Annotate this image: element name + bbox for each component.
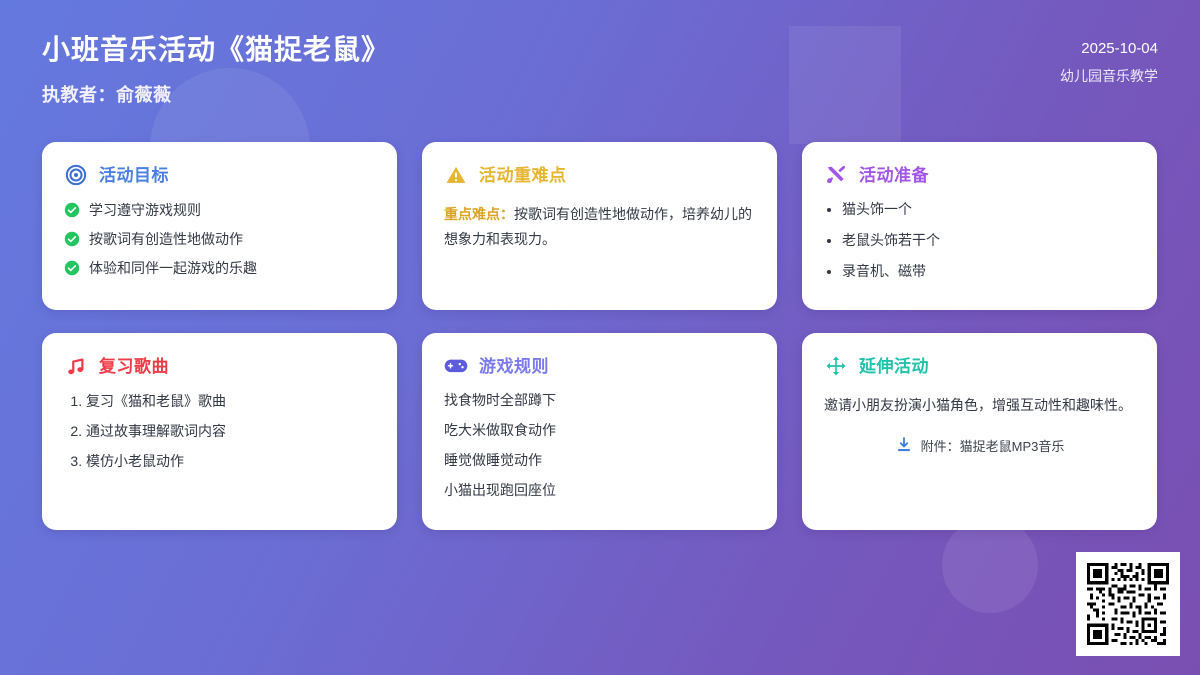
qr-code-image	[1084, 560, 1172, 648]
card-goal-title: 活动目标	[99, 167, 169, 184]
attachment-label: 附件：猫捉老鼠MP3音乐	[921, 436, 1065, 455]
list-item-label: 吃大米做取食动作	[444, 422, 556, 438]
card-goal-header: 活动目标	[64, 162, 375, 188]
slide-header: 小班音乐活动《猫捉老鼠》 执教者：俞薇薇 2025-10-04 幼儿园音乐教学	[0, 0, 1200, 142]
slide-root: 小班音乐活动《猫捉老鼠》 执教者：俞薇薇 2025-10-04 幼儿园音乐教学 …	[0, 0, 1200, 675]
music-note-icon	[64, 354, 88, 378]
list-item: 学习遵守游戏规则	[64, 202, 375, 218]
card-rules-header: 游戏规则	[444, 353, 755, 379]
card-goal: 活动目标 学习遵守游戏规则 按歌词有创造性地做动作 体验和同伴一起游戏的乐趣	[42, 142, 397, 310]
target-icon	[64, 163, 88, 187]
card-focus: 活动重难点 重点难点：按歌词有创造性地做动作，培养幼儿的想象力和表现力。	[422, 142, 777, 310]
check-circle-icon	[64, 231, 80, 247]
list-item: 吃大米做取食动作	[444, 423, 755, 437]
qr-code[interactable]	[1076, 552, 1180, 656]
list-item: 模仿小老鼠动作	[86, 453, 375, 469]
card-rules-title: 游戏规则	[479, 358, 549, 375]
download-icon	[895, 436, 913, 454]
list-item: 复习《猫和老鼠》歌曲	[86, 393, 375, 409]
card-prepare-title: 活动准备	[859, 167, 929, 184]
rules-list: 找食物时全部蹲下 吃大米做取食动作 睡觉做睡觉动作 小猫出现跑回座位	[444, 393, 755, 497]
list-item-label: 复习《猫和老鼠》歌曲	[86, 393, 226, 409]
list-item-label: 小猫出现跑回座位	[444, 482, 556, 498]
focus-label: 重点难点：	[444, 206, 514, 222]
list-item-label: 学习遵守游戏规则	[89, 203, 201, 217]
card-review-title: 复习歌曲	[99, 358, 169, 375]
list-item: 老鼠头饰若干个	[842, 233, 1135, 247]
card-review: 复习歌曲 复习《猫和老鼠》歌曲 通过故事理解歌词内容 模仿小老鼠动作	[42, 333, 397, 530]
gamepad-icon	[444, 354, 468, 378]
list-item-label: 模仿小老鼠动作	[86, 453, 184, 469]
card-grid: 活动目标 学习遵守游戏规则 按歌词有创造性地做动作 体验和同伴一起游戏的乐趣	[42, 142, 1158, 530]
instructor-label: 执教者：俞薇薇	[42, 81, 390, 107]
card-review-header: 复习歌曲	[64, 353, 375, 379]
warning-triangle-icon	[444, 163, 468, 187]
date-label: 2025-10-04	[1060, 38, 1158, 61]
list-item: 录音机、磁带	[842, 264, 1135, 278]
goal-list: 学习遵守游戏规则 按歌词有创造性地做动作 体验和同伴一起游戏的乐趣	[64, 202, 375, 276]
page-title: 小班音乐活动《猫捉老鼠》	[42, 32, 390, 67]
card-extend-title: 延伸活动	[859, 358, 929, 375]
header-right-group: 2025-10-04 幼儿园音乐教学	[1060, 38, 1158, 86]
prepare-list: 猫头饰一个 老鼠头饰若干个 录音机、磁带	[824, 202, 1135, 278]
list-item: 猫头饰一个	[842, 202, 1135, 216]
list-item: 找食物时全部蹲下	[444, 393, 755, 407]
list-item-label: 猫头饰一个	[842, 201, 912, 217]
list-item: 体验和同伴一起游戏的乐趣	[64, 260, 375, 276]
decorative-circle-bottom-right	[942, 517, 1038, 613]
card-extend: 延伸活动 邀请小朋友扮演小猫角色，增强互动性和趣味性。 附件：猫捉老鼠MP3音乐	[802, 333, 1157, 530]
list-item-label: 录音机、磁带	[842, 263, 926, 279]
review-list: 复习《猫和老鼠》歌曲 通过故事理解歌词内容 模仿小老鼠动作	[64, 393, 375, 469]
list-item: 小猫出现跑回座位	[444, 483, 755, 497]
card-prepare: 活动准备 猫头饰一个 老鼠头饰若干个 录音机、磁带	[802, 142, 1157, 310]
check-circle-icon	[64, 260, 80, 276]
header-left-group: 小班音乐活动《猫捉老鼠》 执教者：俞薇薇	[42, 32, 390, 107]
list-item: 按歌词有创造性地做动作	[64, 231, 375, 247]
card-rules: 游戏规则 找食物时全部蹲下 吃大米做取食动作 睡觉做睡觉动作 小猫出现跑回座位	[422, 333, 777, 530]
list-item-label: 找食物时全部蹲下	[444, 392, 556, 408]
tools-icon	[824, 163, 848, 187]
list-item: 睡觉做睡觉动作	[444, 453, 755, 467]
extend-paragraph: 邀请小朋友扮演小猫角色，增强互动性和趣味性。	[824, 393, 1135, 418]
card-extend-header: 延伸活动	[824, 353, 1135, 379]
list-item-label: 老鼠头饰若干个	[842, 232, 940, 248]
attachment-row[interactable]: 附件：猫捉老鼠MP3音乐	[824, 436, 1135, 455]
check-circle-icon	[64, 202, 80, 218]
list-item-label: 体验和同伴一起游戏的乐趣	[89, 261, 257, 275]
list-item-label: 按歌词有创造性地做动作	[89, 232, 243, 246]
list-item-label: 睡觉做睡觉动作	[444, 452, 542, 468]
focus-paragraph: 重点难点：按歌词有创造性地做动作，培养幼儿的想象力和表现力。	[444, 202, 755, 252]
category-label: 幼儿园音乐教学	[1060, 67, 1158, 87]
move-arrows-icon	[824, 354, 848, 378]
card-focus-title: 活动重难点	[479, 167, 567, 184]
card-prepare-header: 活动准备	[824, 162, 1135, 188]
list-item: 通过故事理解歌词内容	[86, 423, 375, 439]
list-item-label: 通过故事理解歌词内容	[86, 423, 226, 439]
card-focus-header: 活动重难点	[444, 162, 755, 188]
